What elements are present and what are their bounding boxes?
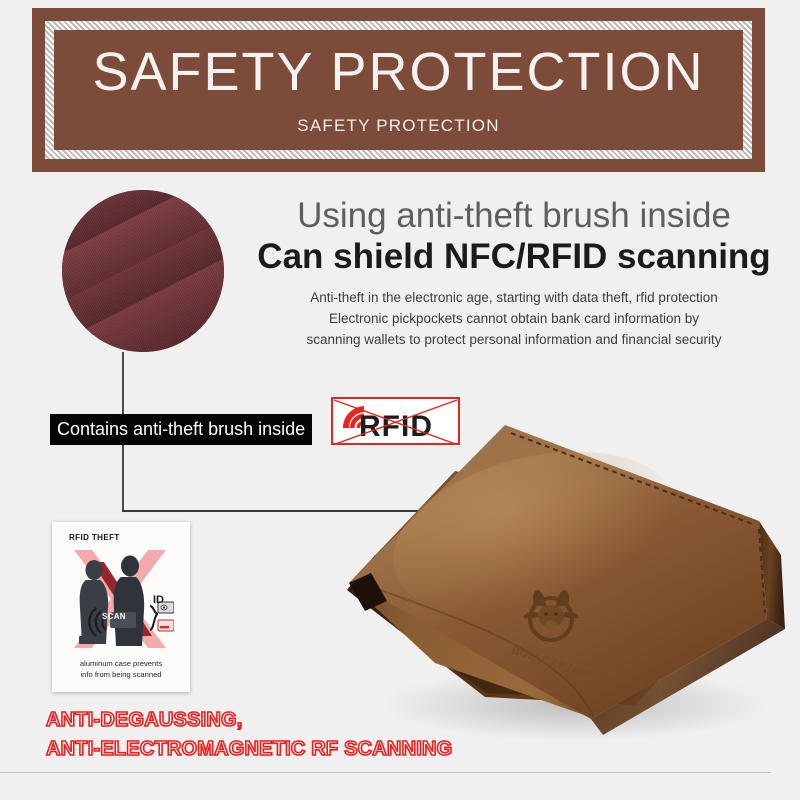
description-paragraph: Anti-theft in the electronic age, starti… — [250, 288, 778, 351]
footer-red-text: ANTI-DEGAUSSING, ANTI-ELECTROMAGNETIC RF… — [46, 706, 452, 764]
heading-block: Using anti-theft brush inside Can shield… — [250, 196, 778, 351]
footer-red-line-1: ANTI-DEGAUSSING, — [46, 706, 452, 735]
fabric-swatch-circle — [62, 190, 224, 352]
bracket-icon — [150, 606, 158, 630]
header-banner: SAFETY PROTECTION SAFETY PROTECTION — [32, 8, 765, 172]
rfid-theft-illustration-card: RFID THEFT — [52, 522, 190, 692]
wallet-product-photo: BULLCAPTAIN — [335, 405, 800, 755]
anti-theft-brush-label: Contains anti-theft brush inside — [50, 414, 312, 445]
description-line-3: scanning wallets to protect personal inf… — [250, 330, 778, 351]
banner-subtitle: SAFETY PROTECTION — [297, 116, 499, 136]
theft-card-footer: aluminum case prevents info from being s… — [52, 658, 190, 680]
heading-line-1: Using anti-theft brush inside — [250, 196, 778, 235]
product-infographic: SAFETY PROTECTION SAFETY PROTECTION Usin… — [0, 0, 800, 800]
banner-hatched-frame: SAFETY PROTECTION SAFETY PROTECTION — [45, 21, 752, 159]
theft-card-footer-line-2: info from being scanned — [52, 669, 190, 680]
wallet-illustration: BULLCAPTAIN — [335, 405, 800, 755]
banner-title: SAFETY PROTECTION — [92, 45, 704, 99]
theft-card-id-label: ID — [153, 594, 164, 606]
description-line-1: Anti-theft in the electronic age, starti… — [250, 288, 778, 309]
banner-inner: SAFETY PROTECTION SAFETY PROTECTION — [54, 30, 743, 150]
theft-card-scan-label: SCAN — [102, 612, 126, 621]
heading-line-2: Can shield NFC/RFID scanning — [250, 237, 778, 276]
bottom-divider — [0, 772, 771, 773]
theft-card-footer-line-1: aluminum case prevents — [52, 658, 190, 669]
footer-red-line-2: ANTI-ELECTROMAGNETIC RF SCANNING — [46, 735, 452, 764]
description-line-2: Electronic pickpockets cannot obtain ban… — [250, 309, 778, 330]
credit-card-icon — [158, 620, 174, 631]
theft-card-title: RFID THEFT — [69, 533, 120, 542]
